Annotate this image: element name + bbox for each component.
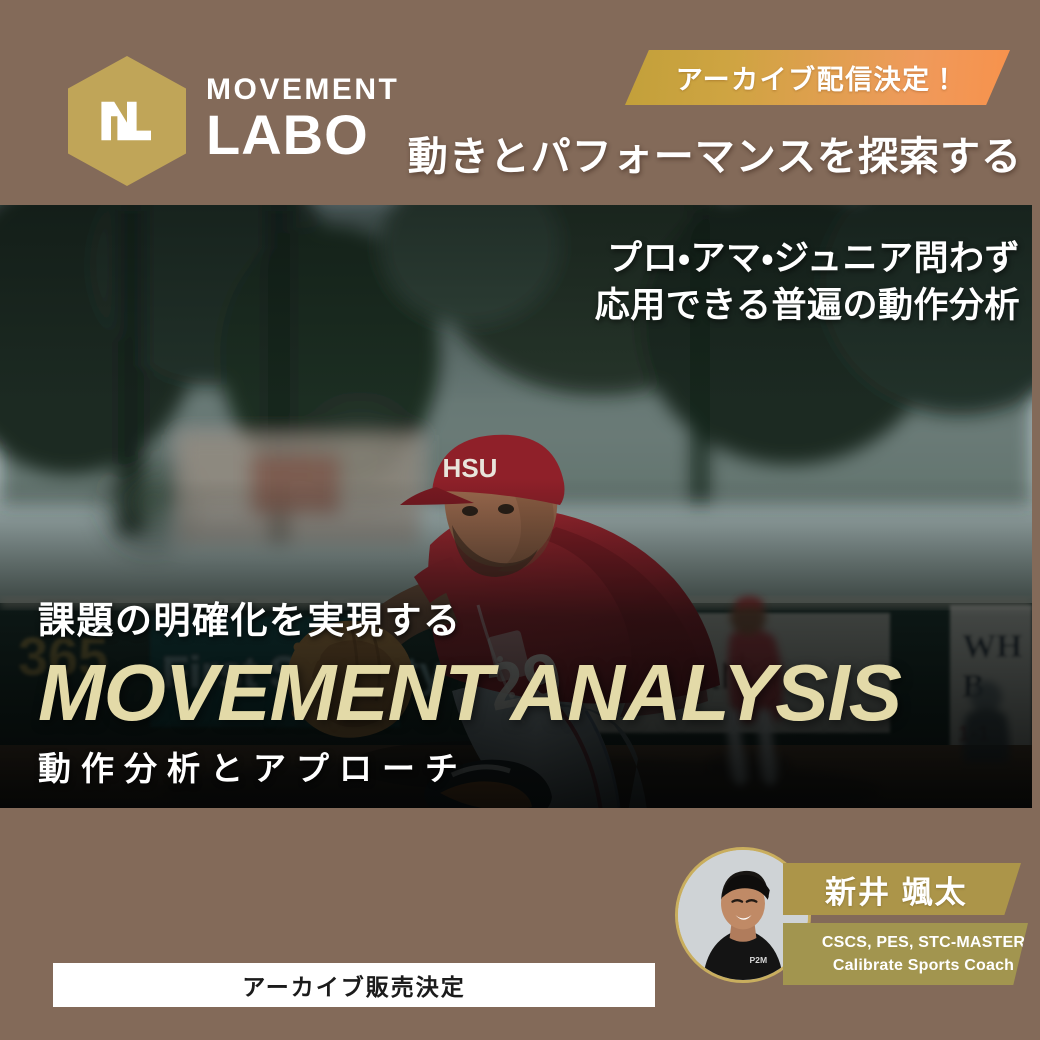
svg-text:HSU: HSU [443, 453, 498, 483]
presenter-card: P2M 新井 颯太 CSCS, PES, STC-MASTER Calibrat… [675, 845, 1030, 995]
archive-announcement-ribbon: アーカイブ配信決定！ [625, 50, 1010, 105]
hero-title-jp-bottom: 動作分析とアプローチ [38, 742, 901, 790]
archive-sale-button[interactable]: アーカイブ販売決定 [53, 963, 655, 1007]
poster-canvas: MOVEMENT LABO アーカイブ配信決定！ 動きとパフォーマンスを探索する [0, 0, 1040, 1040]
hero-photo: 365 First Security aramark WH B 1-1 [0, 205, 1032, 808]
svg-text:P2M: P2M [749, 955, 767, 965]
hero-subheading-line1: プロ・アマ・ジュニア問わず [595, 235, 1020, 282]
ribbon-label: アーカイブ配信決定！ [676, 58, 959, 97]
hero-subheadings: プロ・アマ・ジュニア問わず 応用できる普遍の動作分析 [595, 235, 1020, 330]
hero-subheading-line2: 応用できる普遍の動作分析 [595, 282, 1020, 329]
brand-name-line2: LABO [206, 107, 399, 163]
hero-title-jp-top: 課題の明確化を実現する [38, 590, 901, 644]
brand-logo: MOVEMENT LABO [68, 56, 399, 186]
archive-sale-button-label: アーカイブ販売決定 [242, 968, 466, 1002]
hexagon-ml-monogram-icon [68, 56, 186, 186]
presenter-credentials-line1: CSCS, PES, STC-MASTER [822, 931, 1025, 954]
presenter-name-banner: 新井 颯太 [783, 863, 1021, 915]
svg-text:WH: WH [962, 628, 1022, 665]
hero-title-block: 課題の明確化を実現する MOVEMENT ANALYSIS 動作分析とアプローチ [38, 590, 901, 790]
presenter-name: 新井 颯太 [825, 867, 968, 912]
brand-name-line1: MOVEMENT [206, 75, 399, 105]
presenter-credentials-banner: CSCS, PES, STC-MASTER Calibrate Sports C… [783, 923, 1028, 985]
presenter-credentials-line2: Calibrate Sports Coach [833, 954, 1014, 977]
hero-title-en: MOVEMENT ANALYSIS [38, 650, 901, 736]
page-headline: 動きとパフォーマンスを探索する [408, 124, 1022, 182]
